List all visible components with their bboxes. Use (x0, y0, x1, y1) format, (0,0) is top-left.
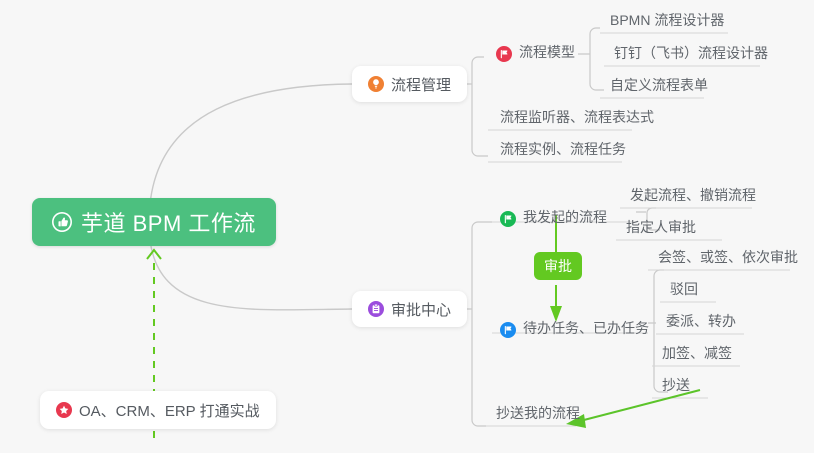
approval-badge[interactable]: 审批 (534, 252, 582, 280)
branch-process-management-label: 流程管理 (391, 74, 451, 95)
node-process-listener-expression[interactable]: 流程监听器、流程表达式 (490, 105, 664, 131)
link-approval-center-trunk (462, 222, 492, 426)
node-carbon-copy[interactable]: 抄送 (652, 373, 700, 399)
node-assignee-approval-label: 指定人审批 (626, 217, 696, 237)
node-process-model[interactable]: 流程模型 (492, 40, 585, 66)
branch-approval-center[interactable]: 审批中心 (352, 291, 467, 327)
flag-icon (500, 211, 516, 227)
node-custom-process-form-label: 自定义流程表单 (610, 75, 708, 95)
node-reject[interactable]: 驳回 (660, 277, 708, 303)
node-bpmn-designer-label: BPMN 流程设计器 (610, 10, 724, 30)
node-process-model-label: 流程模型 (519, 42, 575, 62)
lightbulb-icon (368, 76, 384, 92)
integration-note[interactable]: OA、CRM、ERP 打通实战 (40, 391, 276, 429)
approval-badge-label: 审批 (544, 256, 572, 276)
node-add-remove-sign-label: 加签、减签 (662, 343, 732, 363)
node-todo-done-tasks[interactable]: 待办任务、已办任务 (496, 316, 659, 342)
node-process-instance-task-label: 流程实例、流程任务 (500, 139, 626, 159)
integration-note-label: OA、CRM、ERP 打通实战 (79, 400, 260, 421)
node-todo-done-tasks-label: 待办任务、已办任务 (523, 318, 649, 338)
thumbs-up-icon (52, 212, 72, 232)
node-assignee-approval[interactable]: 指定人审批 (616, 215, 706, 241)
mindmap-canvas: 芋道 BPM 工作流 流程管理 流程模型 BPMN 流程设计器 钉钉（飞书）流程 (0, 0, 814, 453)
node-reject-label: 驳回 (670, 279, 698, 299)
node-countersign-orsign-sequential[interactable]: 会签、或签、依次审批 (648, 245, 808, 271)
node-delegate-transfer-label: 委派、转办 (666, 311, 736, 331)
clipboard-icon (368, 301, 384, 317)
link-root-to-process-management (150, 84, 352, 204)
node-my-started-processes[interactable]: 我发起的流程 (496, 205, 617, 231)
branch-process-management[interactable]: 流程管理 (352, 66, 467, 102)
node-start-cancel-process[interactable]: 发起流程、撤销流程 (620, 183, 766, 209)
flag-icon (500, 322, 516, 338)
node-process-instance-task[interactable]: 流程实例、流程任务 (490, 137, 636, 163)
node-countersign-orsign-sequential-label: 会签、或签、依次审批 (658, 247, 798, 267)
node-delegate-transfer[interactable]: 委派、转办 (656, 309, 746, 335)
star-icon (56, 402, 72, 418)
node-add-remove-sign[interactable]: 加签、减签 (652, 341, 742, 367)
node-start-cancel-process-label: 发起流程、撤销流程 (630, 185, 756, 205)
node-cc-to-me-processes[interactable]: 抄送我的流程 (486, 401, 590, 427)
node-cc-to-me-processes-label: 抄送我的流程 (496, 403, 580, 423)
node-custom-process-form[interactable]: 自定义流程表单 (600, 73, 718, 99)
branch-approval-center-label: 审批中心 (391, 299, 451, 320)
node-my-started-processes-label: 我发起的流程 (523, 207, 607, 227)
dashed-arrowhead-up (147, 250, 161, 259)
root-node[interactable]: 芋道 BPM 工作流 (32, 198, 276, 246)
node-dingtalk-feishu-designer-label: 钉钉（飞书）流程设计器 (614, 43, 768, 63)
flag-icon (496, 46, 512, 62)
node-process-listener-expression-label: 流程监听器、流程表达式 (500, 107, 654, 127)
root-label: 芋道 BPM 工作流 (81, 206, 256, 238)
node-dingtalk-feishu-designer[interactable]: 钉钉（飞书）流程设计器 (604, 41, 778, 67)
link-root-to-approval-center (150, 240, 352, 310)
node-carbon-copy-label: 抄送 (662, 375, 690, 395)
node-bpmn-designer[interactable]: BPMN 流程设计器 (600, 8, 734, 34)
